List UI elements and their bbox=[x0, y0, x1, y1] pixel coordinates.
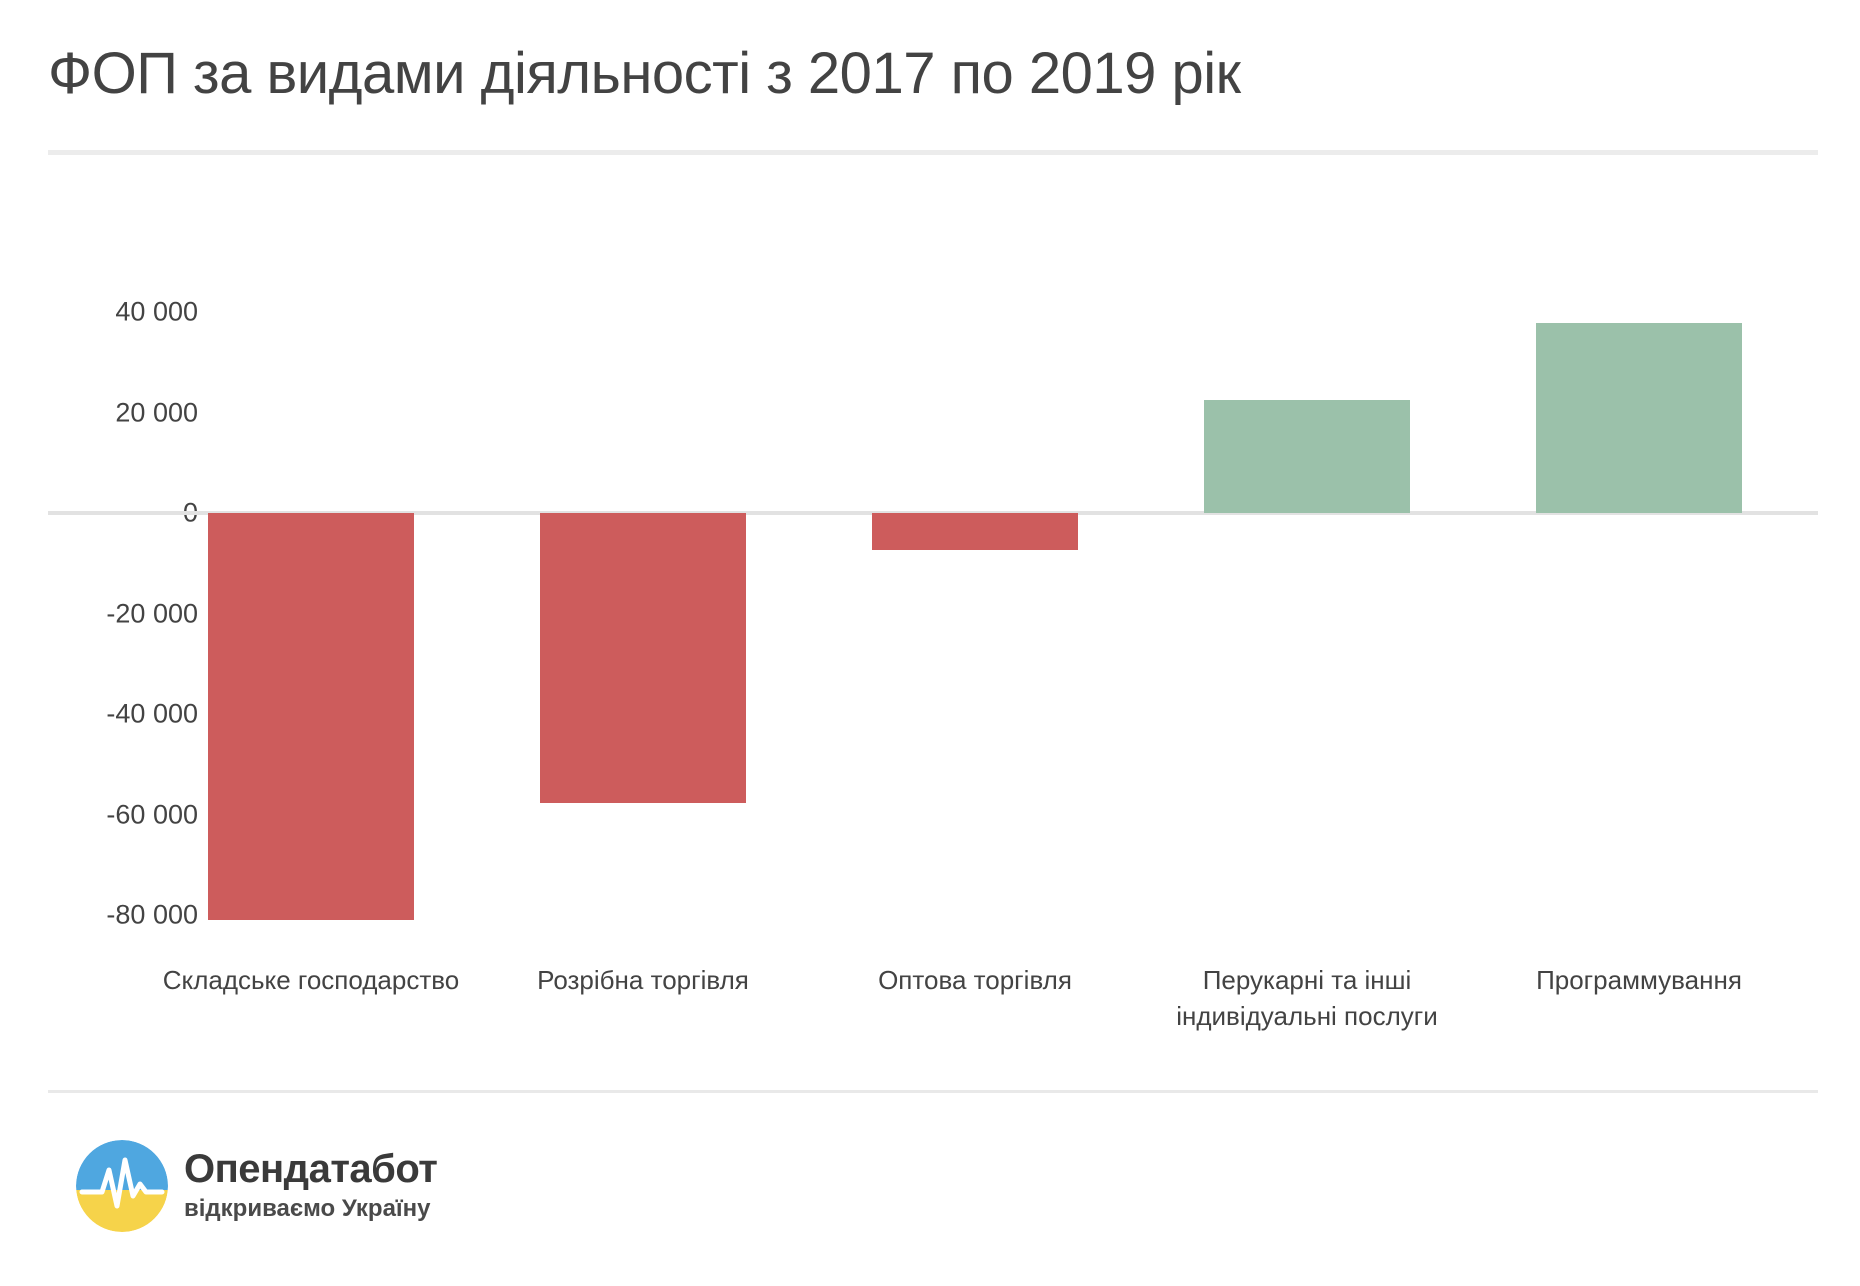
x-axis-label-line: Перукарні та інші bbox=[1117, 962, 1497, 998]
brand-name: Опендатабот bbox=[184, 1146, 437, 1192]
opendatabot-logo-icon bbox=[76, 1140, 168, 1232]
footer-divider bbox=[48, 1090, 1818, 1093]
bar-chart: 40 00020 0000-20 000-40 000-60 000-80 00… bbox=[0, 0, 1860, 1080]
x-axis-label-line: Оптова торгівля bbox=[785, 962, 1165, 998]
x-axis-label: Оптова торгівля bbox=[785, 962, 1165, 998]
x-axis-label-line: Программування bbox=[1449, 962, 1829, 998]
x-axis-label: Розрібна торгівля bbox=[453, 962, 833, 998]
bar[interactable] bbox=[872, 513, 1078, 550]
x-axis-label: Складське господарство bbox=[121, 962, 501, 998]
x-axis-label-line: Розрібна торгівля bbox=[453, 962, 833, 998]
bar[interactable] bbox=[1536, 323, 1742, 513]
x-axis-label: Перукарні та іншііндивідуальні послуги bbox=[1117, 962, 1497, 1034]
bar[interactable] bbox=[208, 513, 414, 920]
x-axis-label-line: Складське господарство bbox=[121, 962, 501, 998]
bar[interactable] bbox=[540, 513, 746, 803]
x-axis-label: Программування bbox=[1449, 962, 1829, 998]
bar[interactable] bbox=[1204, 400, 1410, 513]
bar-series bbox=[0, 0, 1860, 1080]
brand-text: Опендатабот відкриваємо Україну bbox=[184, 1146, 437, 1224]
brand-logo: Опендатабот відкриваємо Україну bbox=[76, 1140, 496, 1240]
brand-tagline: відкриваємо Україну bbox=[184, 1194, 437, 1224]
x-axis-label-line: індивідуальні послуги bbox=[1117, 998, 1497, 1034]
